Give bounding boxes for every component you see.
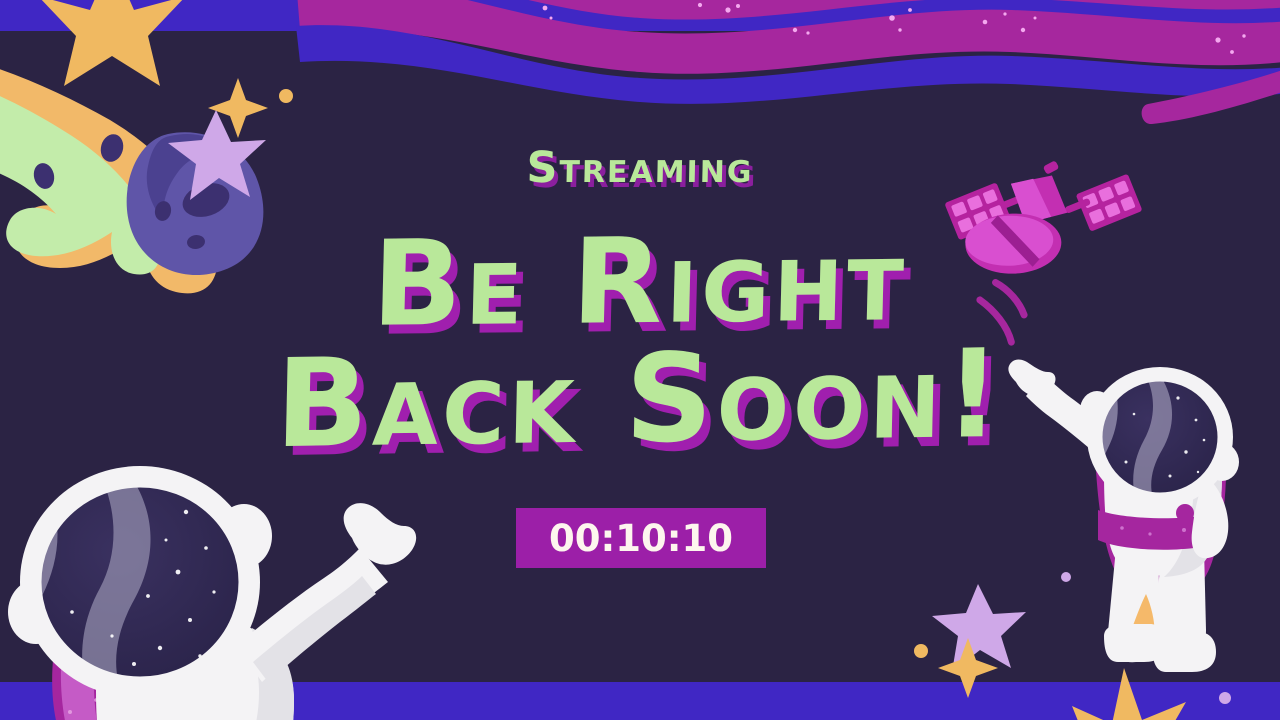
foreground-art-layer (0, 0, 1280, 720)
astronaut-right-icon (1008, 360, 1239, 673)
astronaut-left-icon (0, 466, 416, 720)
stream-overlay-canvas: Streaming Be Right Back Soon! 00:10:10 (0, 0, 1280, 720)
